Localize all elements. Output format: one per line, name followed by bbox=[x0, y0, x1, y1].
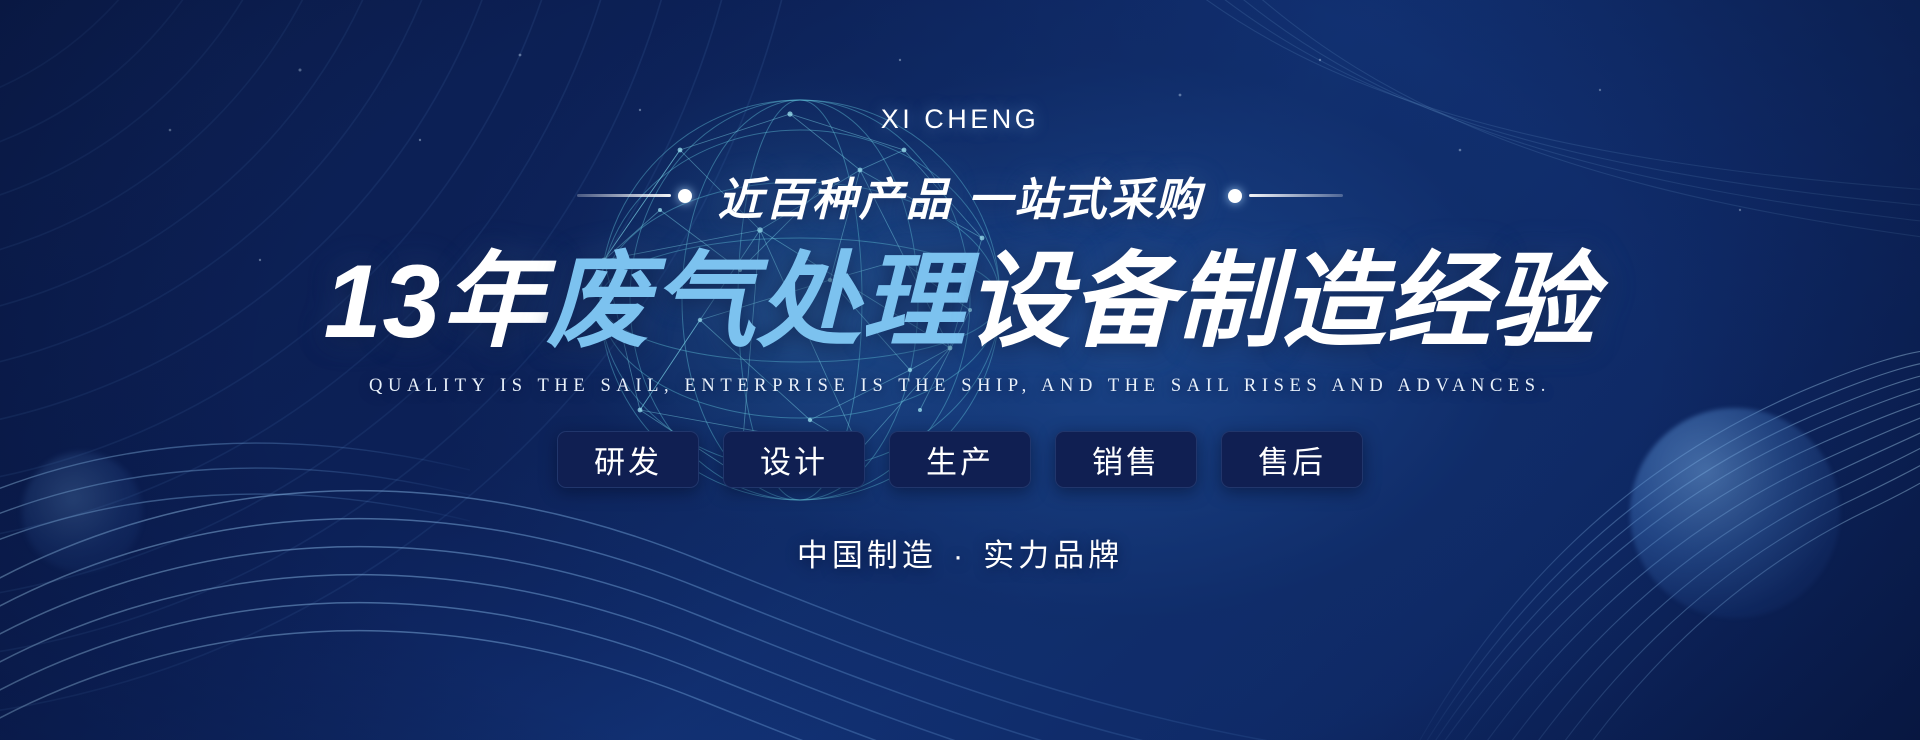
subtitle-text: 近百种产品 一站式采购 bbox=[718, 163, 1203, 228]
headline: 13年废气处理设备制造经验 bbox=[324, 244, 1597, 360]
service-tag-rd[interactable]: 研发 bbox=[557, 431, 699, 488]
service-tag-design[interactable]: 设计 bbox=[723, 431, 865, 488]
footer-slogan-right: 实力品牌 bbox=[983, 538, 1123, 573]
tagline-en: QUALITY IS THE SAIL, ENTERPRISE IS THE S… bbox=[369, 376, 1551, 397]
service-tag-production[interactable]: 生产 bbox=[889, 431, 1031, 488]
banner-content: XI CHENG 近百种产品 一站式采购 13年废气处理设备制造经验 QUALI… bbox=[0, 0, 1920, 740]
footer-slogan: 中国制造·实力品牌 bbox=[797, 530, 1123, 575]
hero-banner: XI CHENG 近百种产品 一站式采购 13年废气处理设备制造经验 QUALI… bbox=[0, 0, 1920, 740]
service-tag-list: 研发 设计 生产 销售 售后 bbox=[557, 431, 1363, 488]
headline-part-tail: 设备制造经验 bbox=[966, 244, 1596, 360]
decorative-rule-left-icon bbox=[577, 189, 692, 203]
service-tag-sales[interactable]: 销售 bbox=[1055, 431, 1197, 488]
service-tag-aftersales[interactable]: 售后 bbox=[1221, 431, 1363, 488]
headline-part-accent: 废气处理 bbox=[546, 244, 966, 360]
decorative-rule-right-icon bbox=[1228, 189, 1343, 203]
headline-part-years: 13年 bbox=[324, 244, 547, 360]
brand-name-en: XI CHENG bbox=[881, 104, 1040, 135]
footer-slogan-left: 中国制造 bbox=[797, 538, 937, 573]
subtitle-row: 近百种产品 一站式采购 bbox=[577, 163, 1344, 228]
footer-slogan-separator: · bbox=[953, 538, 967, 573]
